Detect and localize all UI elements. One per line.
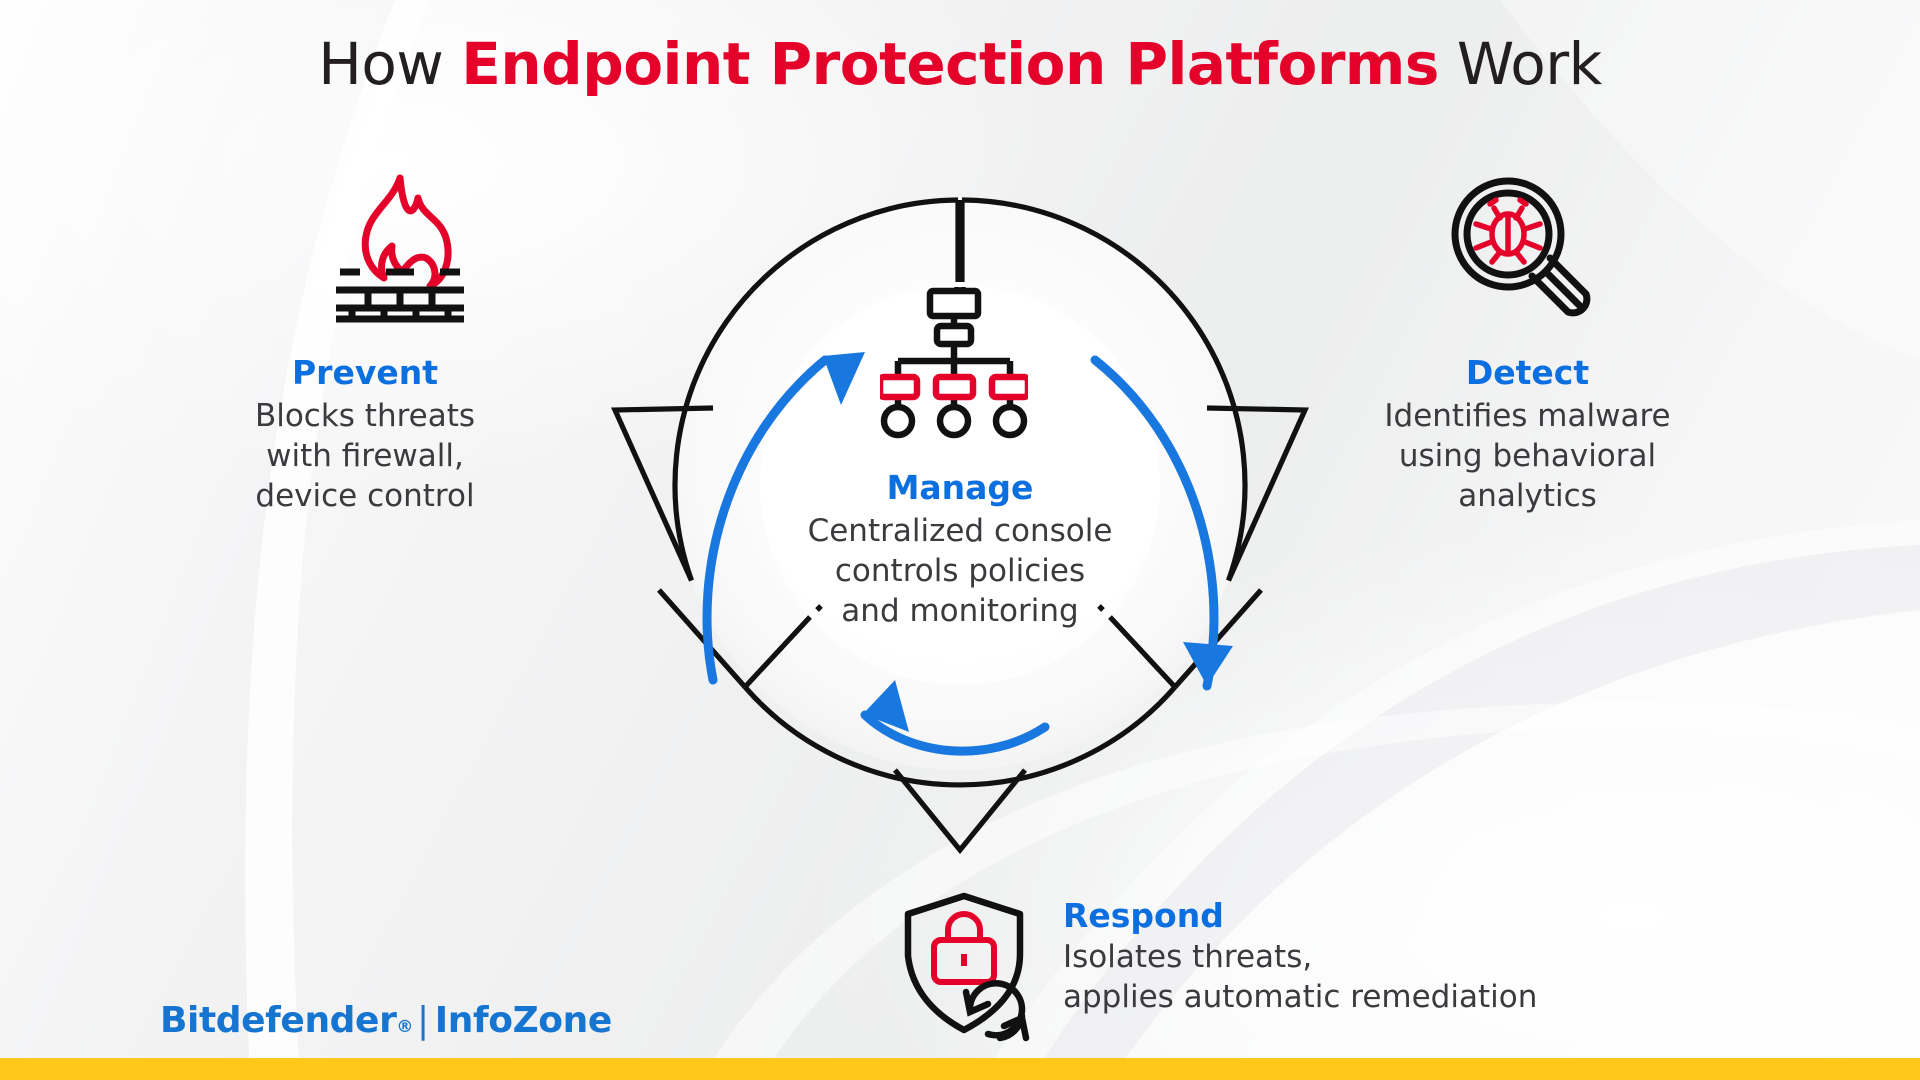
node-detect: Detect Identifies malware using behavior… bbox=[1355, 355, 1700, 517]
node-respond-label: Respond bbox=[1063, 898, 1663, 935]
arrowhead-down-right bbox=[1183, 642, 1233, 686]
node-detect-label: Detect bbox=[1355, 355, 1700, 392]
firewall-flame-icon bbox=[330, 168, 470, 323]
magnifier-bug-icon bbox=[1446, 172, 1596, 322]
node-respond: Respond Isolates threats, applies automa… bbox=[1063, 898, 1663, 1018]
node-respond-description: Isolates threats, applies automatic reme… bbox=[1063, 938, 1663, 1018]
sub-brand-name: InfoZone bbox=[435, 1000, 612, 1041]
logo-separator: | bbox=[417, 1000, 429, 1041]
node-prevent: Prevent Blocks threats with firewall, de… bbox=[205, 355, 525, 517]
title-lead: How bbox=[318, 30, 461, 98]
shield-lock-refresh-icon bbox=[900, 892, 1045, 1042]
brand-logo: Bitdefender®|InfoZone bbox=[160, 1000, 612, 1041]
node-manage-description: Centralized console controls policies an… bbox=[735, 512, 1185, 632]
page-title: How Endpoint Protection Platforms Work bbox=[0, 30, 1920, 98]
title-trail: Work bbox=[1439, 30, 1602, 98]
org-chart-icon bbox=[880, 285, 1028, 440]
node-manage: Manage Centralized console controls poli… bbox=[735, 470, 1185, 632]
node-manage-label: Manage bbox=[735, 470, 1185, 507]
node-prevent-label: Prevent bbox=[205, 355, 525, 392]
registered-mark: ® bbox=[396, 1017, 413, 1037]
bottom-accent-bar bbox=[0, 1058, 1920, 1080]
brand-name: Bitdefender bbox=[160, 1000, 396, 1041]
node-prevent-description: Blocks threats with firewall, device con… bbox=[205, 397, 525, 517]
node-detect-description: Identifies malware using behavioral anal… bbox=[1355, 397, 1700, 517]
title-highlight: Endpoint Protection Platforms bbox=[461, 30, 1439, 98]
